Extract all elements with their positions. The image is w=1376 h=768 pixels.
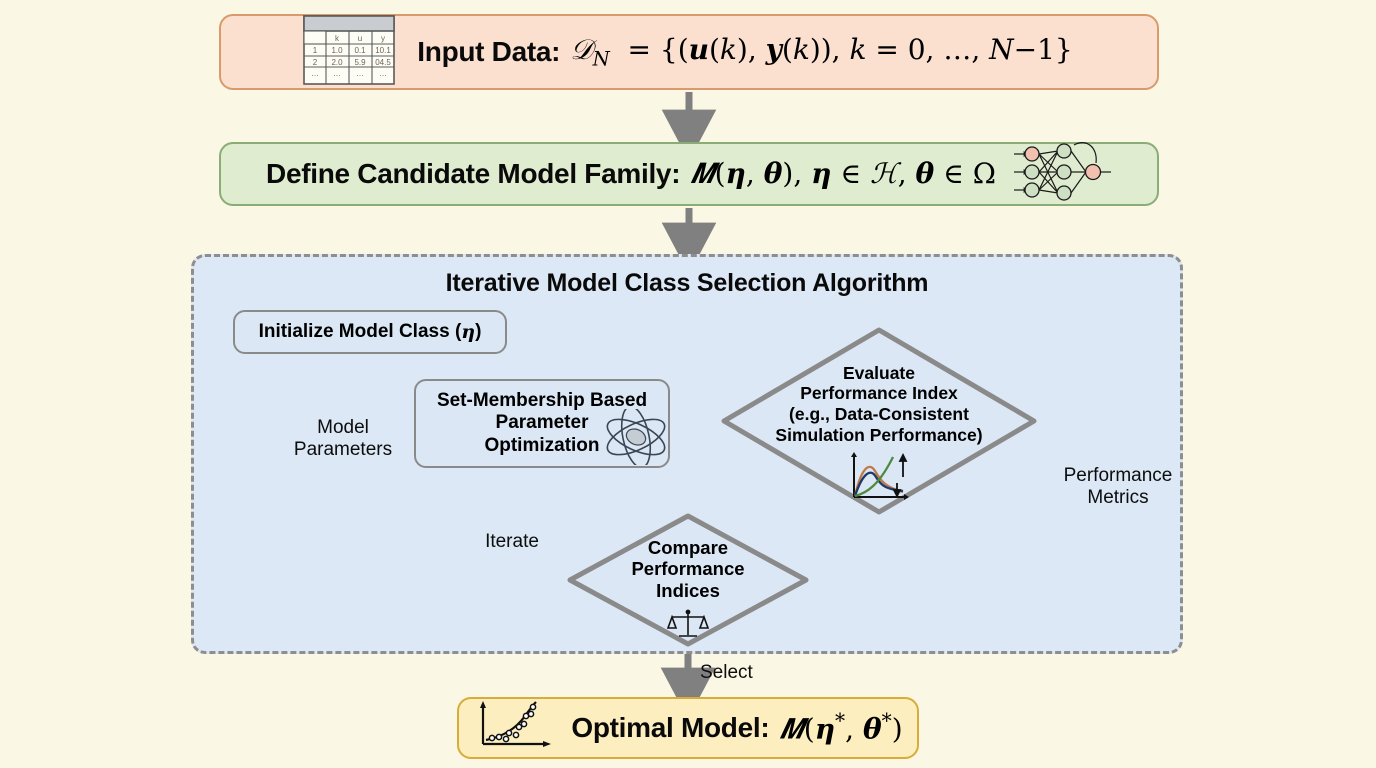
initialize-label-prefix: Initialize Model Class ( [259, 321, 462, 343]
svg-text:5.9: 5.9 [355, 58, 367, 67]
data-table-icon: kuy 11.00.110.1 22.05.904.5 ………… [303, 15, 395, 90]
initialize-label-symbol: η [461, 321, 475, 343]
edge-label-select: Select [700, 662, 790, 684]
input-data-formula: 𝒟N = {(u(k), y(k)), k = 0, …, N−1} [570, 33, 1073, 71]
model-family-formula: 𝑴(η, θ), η ∈ ℋ, θ ∈ Ω [690, 157, 996, 191]
edge-label-model-parameters: Model Parameters [268, 417, 418, 461]
svg-text:u: u [358, 34, 362, 43]
svg-text:1.0: 1.0 [332, 46, 344, 55]
input-data-label: Input Data: [417, 36, 560, 68]
atom-orbit-icon [598, 409, 674, 471]
svg-text:2: 2 [313, 58, 318, 67]
svg-text:2.0: 2.0 [332, 58, 344, 67]
svg-text:…: … [379, 69, 387, 78]
optimal-model-formula: 𝑴(η*, θ*) [779, 709, 902, 746]
svg-text:…: … [311, 69, 319, 78]
node-model-family[interactable]: Define Candidate Model Family: 𝑴(η, θ), … [219, 142, 1159, 206]
node-compare-performance-indices[interactable]: Compare Performance Indices [566, 512, 810, 648]
svg-text:y: y [381, 34, 385, 43]
svg-text:10.1: 10.1 [375, 46, 391, 55]
scatter-fit-icon [473, 698, 557, 759]
svg-text:0.1: 0.1 [355, 46, 367, 55]
node-input-data[interactable]: kuy 11.00.110.1 22.05.904.5 ………… Input D… [219, 14, 1159, 90]
svg-text:1: 1 [313, 46, 318, 55]
svg-text:04.5: 04.5 [375, 58, 391, 67]
edge-label-performance-metrics: Performance Metrics [1042, 465, 1194, 509]
node-initialize-model-class[interactable]: Initialize Model Class (η) [233, 310, 507, 354]
edge-label-iterate: Iterate [466, 531, 558, 553]
initialize-label-suffix: ) [475, 321, 481, 343]
svg-text:…: … [356, 69, 364, 78]
algorithm-title: Iterative Model Class Selection Algorith… [194, 269, 1180, 298]
line-chart-icon [845, 451, 913, 512]
neural-network-icon [1012, 141, 1112, 208]
optimal-model-label: Optimal Model: [571, 712, 769, 744]
node-evaluate-performance-index[interactable]: Evaluate Performance Index (e.g., Data-C… [719, 325, 1039, 517]
model-family-label: Define Candidate Model Family: [266, 158, 680, 190]
svg-text:…: … [333, 69, 341, 78]
balance-scale-icon [667, 608, 709, 645]
node-parameter-optimization[interactable]: Set-Membership Based Parameter Optimizat… [414, 379, 670, 468]
node-optimal-model[interactable]: Optimal Model: 𝑴(η*, θ*) [457, 697, 919, 759]
